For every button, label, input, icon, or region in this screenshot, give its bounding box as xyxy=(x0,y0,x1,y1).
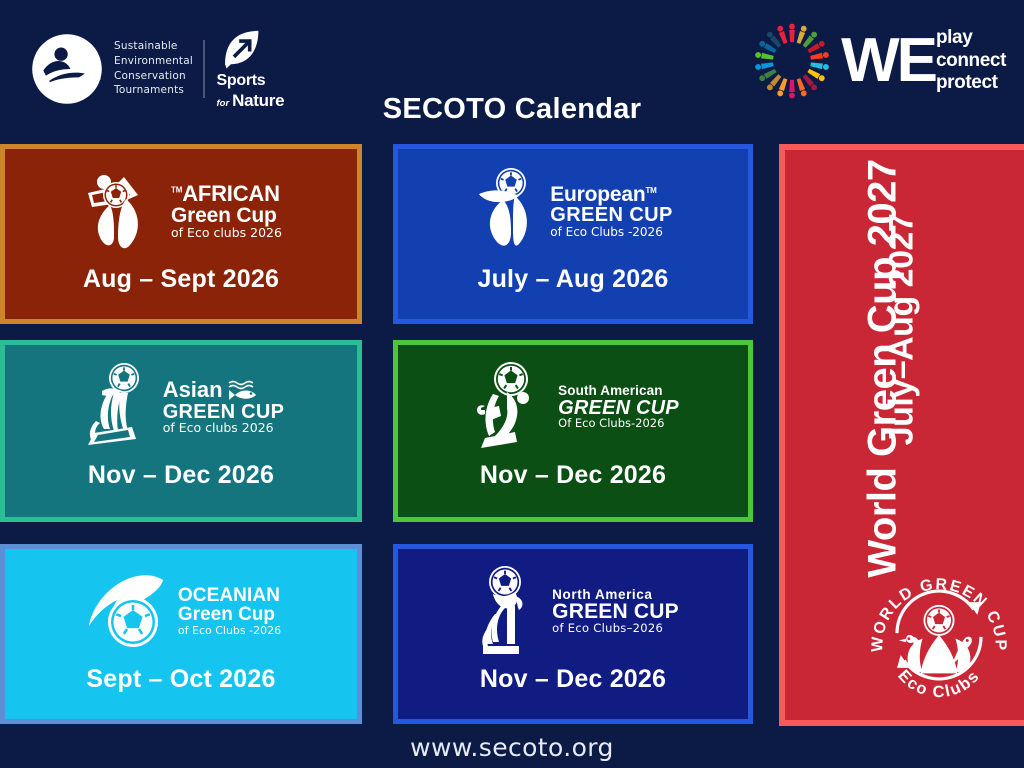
asian-line-1: Asian xyxy=(163,379,223,401)
asian-line-3: of Eco clubs 2026 xyxy=(163,422,285,435)
south-american-line-1: South American xyxy=(558,384,679,398)
card-south-american-green-cup[interactable]: South American GREEN CUP Of Eco Clubs-20… xyxy=(393,340,753,522)
north-america-line-1: North America xyxy=(552,588,679,602)
secoto-line-2: Environmental xyxy=(114,54,193,69)
european-line-3: of Eco Clubs -2026 xyxy=(550,226,673,238)
oceanian-green-cup-logo: OCEANIAN Green Cup of Eco Clubs -2026 xyxy=(81,559,281,663)
card-african-green-cup[interactable]: TMAFRICAN Green Cup of Eco clubs 2026 Au… xyxy=(0,144,362,324)
african-tm: TM xyxy=(171,185,182,194)
north-america-trophy-ball-icon xyxy=(467,564,547,658)
african-green-cup-logo: TMAFRICAN Green Cup of Eco clubs 2026 xyxy=(80,159,282,263)
oceanian-line-1: OCEANIAN xyxy=(178,586,281,605)
sports-for-nature-line-1: Sports xyxy=(217,73,266,89)
card-asian-green-cup[interactable]: Asian GREEN CUP of Eco clubs 2026 Nov – … xyxy=(0,340,362,522)
page-footer: www.secoto.org xyxy=(0,726,1024,768)
we-logo: WE play connect protect xyxy=(749,18,1006,104)
logo-divider xyxy=(203,40,205,98)
oceanian-line-3: of Eco Clubs -2026 xyxy=(178,625,281,636)
european-tm: TM xyxy=(645,186,656,195)
african-date: Aug – Sept 2026 xyxy=(83,265,279,294)
north-america-line-3: of Eco Clubs–2026 xyxy=(552,623,679,635)
secoto-line-3: Conservation xyxy=(114,69,193,84)
secoto-tagline: Sustainable Environmental Conservation T… xyxy=(114,39,193,99)
european-date: July – Aug 2026 xyxy=(477,265,668,294)
website-url[interactable]: www.secoto.org xyxy=(410,733,614,762)
african-line-3: of Eco clubs 2026 xyxy=(171,227,282,240)
oceanian-line-2: Green Cup xyxy=(178,605,281,624)
european-line-1: European xyxy=(550,183,645,206)
card-world-green-cup[interactable]: World Green Cup 2027 July–Aug 2027 WORLD… xyxy=(779,144,1024,726)
sdg-people-wheel-icon xyxy=(749,18,835,104)
we-taglines: play connect protect xyxy=(936,27,1006,94)
we-tagline-protect: protect xyxy=(936,72,1006,94)
page-header: Sustainable Environmental Conservation T… xyxy=(0,0,1024,144)
asian-green-cup-logo: Asian GREEN CUP of Eco clubs 2026 xyxy=(78,355,285,459)
card-oceanian-green-cup[interactable]: OCEANIAN Green Cup of Eco Clubs -2026 Se… xyxy=(0,544,362,724)
asian-date: Nov – Dec 2026 xyxy=(88,461,274,490)
we-tagline-play: play xyxy=(936,27,1006,49)
we-letters: WE xyxy=(841,36,935,87)
south-american-green-cup-logo: South American GREEN CUP Of Eco Clubs-20… xyxy=(467,355,679,459)
asian-trophy-ball-icon xyxy=(78,361,158,453)
south-american-trophy-ball-icon xyxy=(467,360,553,454)
european-ball-leaf-icon xyxy=(473,166,545,256)
european-green-cup-logo: EuropeanTM GREEN CUP of Eco Clubs -2026 xyxy=(473,159,673,263)
world-green-cup-date: July–Aug 2027 xyxy=(883,155,922,505)
world-green-cup-emblem: WORLD GREEN CUP Eco Clubs xyxy=(866,562,1012,708)
african-line-2: Green Cup xyxy=(171,205,282,226)
north-america-green-cup-logo: North America GREEN CUP of Eco Clubs–202… xyxy=(467,559,679,663)
oceanian-date: Sept – Oct 2026 xyxy=(86,665,275,694)
north-america-line-2: GREEN CUP xyxy=(552,601,679,622)
oceanian-dolphin-ball-icon xyxy=(81,568,173,654)
card-european-green-cup[interactable]: EuropeanTM GREEN CUP of Eco Clubs -2026 … xyxy=(393,144,753,324)
south-american-line-2: GREEN CUP xyxy=(558,398,679,418)
asian-line-2: GREEN CUP xyxy=(163,402,285,422)
north-america-date: Nov – Dec 2026 xyxy=(480,665,666,694)
we-tagline-connect: connect xyxy=(936,50,1006,72)
european-line-2: GREEN CUP xyxy=(550,205,673,225)
secoto-line-1: Sustainable xyxy=(114,39,193,54)
card-north-america-green-cup[interactable]: North America GREEN CUP of Eco Clubs–202… xyxy=(393,544,753,724)
african-figure-ball-icon xyxy=(80,169,166,253)
south-american-date: Nov – Dec 2026 xyxy=(480,461,666,490)
page-title: SECOTO Calendar xyxy=(0,93,1024,126)
african-line-1: AFRICAN xyxy=(182,181,280,206)
leaf-arrow-icon xyxy=(219,28,263,70)
fish-waves-icon xyxy=(227,379,261,401)
south-american-line-3: Of Eco Clubs-2026 xyxy=(558,418,679,430)
